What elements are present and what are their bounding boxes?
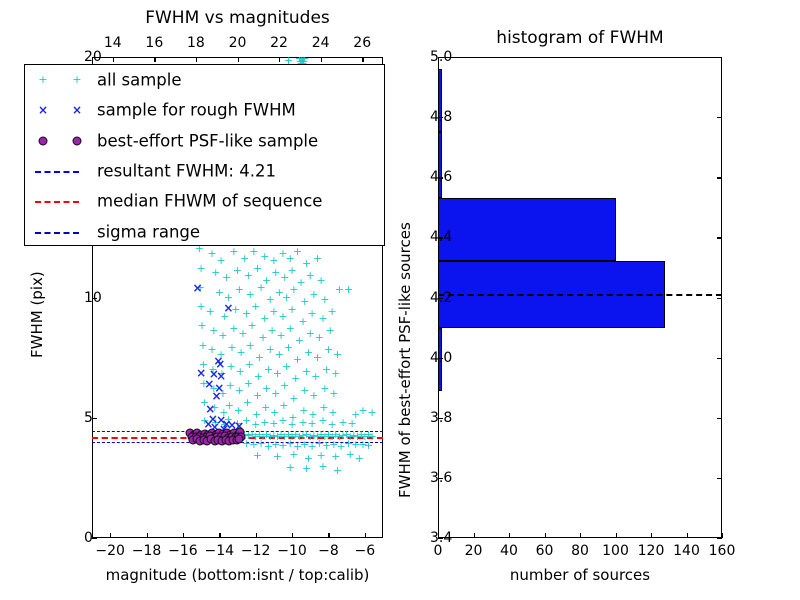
marker-all-sample: + [235,286,244,294]
ytick-right-label: 3.4 [430,530,452,546]
legend-item-median-fhwm-of-sequence[interactable]: median FHWM of sequence [25,186,384,216]
marker-all-sample: + [346,451,355,459]
marker-all-sample: + [335,286,344,294]
legend-plus-icon: + [72,76,81,84]
marker-all-sample: + [215,289,224,297]
marker-all-sample: + [287,306,296,314]
marker-all-sample: + [197,303,206,311]
tick-mark-y-right [717,358,722,359]
marker-all-sample: + [307,420,316,428]
xtick-top-label: 18 [187,35,205,51]
ytick-right-label: 3.6 [430,470,452,486]
legend-cross-icon: × [72,106,82,114]
marker-all-sample: + [347,420,356,428]
ytick-left-label: 0 [84,530,93,546]
marker-all-sample: + [251,303,260,311]
ytick-right-label: 3.8 [430,410,452,426]
marker-all-sample: + [240,255,249,263]
xtick-top-label: 16 [145,35,163,51]
marker-rough-fwhm: × [196,369,206,377]
marker-all-sample: + [209,327,218,335]
marker-all-sample: + [282,363,291,371]
tick-mark-x-right [474,533,475,538]
marker-all-sample: + [302,260,311,268]
left-panel-title: FWHM vs magnitudes [145,8,330,28]
marker-rough-fwhm: × [204,380,214,388]
marker-all-sample: + [344,286,353,294]
tick-mark-bottom [256,533,257,538]
marker-all-sample: + [227,363,236,371]
xtick-bottom-label: −10 [277,543,307,559]
marker-all-sample: + [333,351,342,359]
marker-all-sample: + [254,373,263,381]
tick-mark-bottom [328,533,329,538]
ytick-right-label: 4.8 [430,109,452,125]
marker-all-sample: + [298,419,307,427]
marker-all-sample: + [289,451,298,459]
marker-all-sample: + [322,366,331,374]
marker-all-sample: + [249,248,258,256]
marker-all-sample: + [271,269,280,277]
xtick-right-label: 20 [465,543,483,559]
marker-all-sample: + [299,407,308,415]
xtick-top-label: 26 [353,35,371,51]
marker-all-sample: + [309,291,318,299]
marker-all-sample: + [198,342,207,350]
legend-item-label: median FHWM of sequence [97,192,322,211]
legend-box: ++all sample××sample for rough FWHMbest-… [24,64,385,246]
marker-all-sample: + [226,382,235,390]
tick-mark-bottom [292,533,293,538]
marker-all-sample: + [313,354,322,362]
marker-all-sample: + [298,318,307,326]
marker-all-sample: + [247,322,256,330]
legend-cross-icon: × [38,106,48,114]
marker-all-sample: + [253,452,262,460]
marker-all-sample: + [300,387,309,395]
ytick-left-label: 5 [84,410,93,426]
marker-all-sample: + [319,404,328,412]
marker-all-sample: + [306,330,315,338]
marker-all-sample: + [278,313,287,321]
marker-all-sample: + [273,453,282,461]
tick-mark-bottom [147,533,148,538]
marker-all-sample: + [307,310,316,318]
ytick-right-label: 4.2 [430,290,452,306]
marker-all-sample: + [331,453,340,461]
histogram-bar [438,198,616,261]
marker-all-sample: + [320,385,329,393]
marker-all-sample: + [315,334,324,342]
marker-all-sample: + [258,334,267,342]
ytick-right-label: 5.0 [430,49,452,65]
marker-all-sample: + [257,284,266,292]
marker-all-sample: + [227,344,236,352]
marker-all-sample: + [238,330,247,338]
marker-all-sample: + [367,409,376,417]
marker-rough-fwhm: × [212,392,222,400]
legend-line-icon [35,171,79,173]
legend-line-icon [35,201,79,203]
xtick-bottom-label: −18 [132,543,162,559]
marker-all-sample: + [261,404,270,412]
marker-all-sample: + [302,368,311,376]
legend-item-label: all sample [97,71,182,90]
marker-all-sample: + [218,332,227,340]
marker-all-sample: + [318,417,327,425]
marker-all-sample: + [331,370,340,378]
xtick-right-label: 100 [602,543,629,559]
marker-all-sample: + [266,296,275,304]
marker-all-sample: + [244,272,253,280]
legend-item-resultant-fwhm-4-21[interactable]: resultant FWHM: 4.21 [25,156,384,186]
marker-psf-like [235,435,244,444]
tick-mark-y-right [717,478,722,479]
marker-all-sample: + [273,370,282,378]
xtick-bottom-label: −12 [241,543,271,559]
tick-mark-y-right [717,418,722,419]
tick-mark-x-right [722,533,723,538]
marker-all-sample: + [229,248,238,256]
marker-all-sample: + [306,272,315,280]
marker-rough-fwhm: × [216,372,226,380]
xtick-bottom-label: −8 [318,543,339,559]
marker-all-sample: + [313,255,322,263]
marker-all-sample: + [267,327,276,335]
tick-mark-y-right [717,538,722,539]
marker-all-sample: + [289,286,298,294]
marker-all-sample: + [278,417,287,425]
marker-all-sample: + [266,346,275,354]
marker-all-sample: + [269,257,278,265]
tick-mark-x-right [616,533,617,538]
legend-item-sample-for-rough-fwhm[interactable]: ××sample for rough FWHM [25,95,384,125]
figure-canvas: ++++++++++++++++++++++++++++++++++++++++… [0,0,800,600]
histogram-bar [438,132,442,198]
tick-mark-bottom [110,533,111,538]
xtick-bottom-label: −14 [205,543,235,559]
xtick-top-label: 20 [229,35,247,51]
ytick-right-label: 4.6 [430,169,452,185]
marker-all-sample: + [211,269,220,277]
legend-item-label: sample for rough FWHM [97,101,296,120]
marker-all-sample: + [233,267,242,275]
marker-all-sample: + [327,308,336,316]
tick-mark-y-right [717,117,722,118]
left-yaxis-label: FWHM (pix) [28,271,46,358]
marker-all-sample: + [243,399,252,407]
xtick-bottom-label: −20 [95,543,125,559]
marker-all-sample: + [304,349,313,357]
tick-mark-y-right [717,298,722,299]
marker-all-sample: + [197,265,206,273]
marker-all-sample: + [222,274,231,282]
marker-all-sample: + [311,373,320,381]
marker-all-sample: + [224,294,233,302]
right-panel-title: histogram of FWHM [496,28,663,48]
tick-mark-y-right [717,177,722,178]
marker-all-sample: + [217,257,226,265]
marker-all-sample: + [289,395,298,403]
ytick-right-label: 4.4 [430,229,452,245]
marker-all-sample: + [355,455,364,463]
marker-all-sample: + [318,315,327,323]
marker-all-sample: + [206,308,215,316]
marker-all-sample: + [246,291,255,299]
xtick-right-label: 140 [673,543,700,559]
marker-rough-fwhm: × [192,284,202,292]
legend-line-icon [35,232,79,234]
legend-item-all-sample[interactable]: ++all sample [25,65,384,95]
tick-mark-top [238,57,239,62]
marker-all-sample: + [364,442,373,450]
marker-all-sample: + [287,267,296,275]
tick-mark-top [196,57,197,62]
marker-all-sample: + [260,253,269,261]
marker-all-sample: + [260,419,269,427]
left-xaxis-label: magnitude (bottom:isnt / top:calib) [106,566,370,584]
tick-mark-y-right [717,237,722,238]
marker-all-sample: + [245,361,254,369]
marker-all-sample: + [302,465,311,473]
legend-item-sigma-range[interactable]: sigma range [25,217,384,247]
marker-all-sample: + [242,310,251,318]
marker-all-sample: + [279,402,288,410]
marker-all-sample: + [235,387,244,395]
histogram-reference-line [438,294,722,296]
xtick-right-label: 80 [571,543,589,559]
marker-all-sample: + [338,419,347,427]
right-yaxis-label: FWHM of best-effort PSF-like sources [396,222,414,498]
marker-all-sample: + [317,277,326,285]
tick-mark-x-right [651,533,652,538]
marker-all-sample: + [225,402,234,410]
tick-mark-top [154,57,155,62]
legend-item-label: sigma range [97,222,200,241]
marker-all-sample: + [326,327,335,335]
marker-all-sample: + [284,344,293,352]
tick-mark-bottom [365,533,366,538]
marker-all-sample: + [329,390,338,398]
marker-all-sample: + [269,308,278,316]
marker-all-sample: + [197,322,206,330]
marker-all-sample: + [358,407,367,415]
xtick-top-label: 24 [312,35,330,51]
marker-all-sample: + [264,366,273,374]
legend-dot-icon [73,136,82,145]
marker-all-sample: + [253,265,262,273]
marker-all-sample: + [280,382,289,390]
marker-all-sample: + [333,467,342,475]
xtick-right-label: 160 [709,543,736,559]
marker-all-sample: + [295,337,304,345]
tick-mark-top [279,57,280,62]
marker-all-sample: + [229,325,238,333]
marker-all-sample: + [318,463,327,471]
marker-all-sample: + [237,349,246,357]
marker-all-sample: + [320,296,329,304]
tick-mark-x-right [509,533,510,538]
marker-all-sample: + [293,356,302,364]
marker-all-sample: + [207,346,216,354]
marker-all-sample: + [244,380,253,388]
tick-mark-top [113,57,114,62]
tick-mark-x-right [545,533,546,538]
legend-item-label: best-effort PSF-like sample [97,131,318,150]
marker-all-sample: + [246,342,255,350]
marker-rough-fwhm: × [223,304,233,312]
marker-all-sample: + [275,351,284,359]
tick-mark-x-right [687,533,688,538]
marker-all-sample: + [300,298,309,306]
xtick-top-label: 14 [104,35,122,51]
marker-rough-fwhm: × [215,360,225,368]
tick-mark-x-right [580,533,581,538]
ytick-left-label: 10 [84,290,102,306]
marker-all-sample: + [277,332,286,340]
xtick-bottom-label: −6 [354,543,375,559]
tick-mark-y-right [717,57,722,58]
xtick-right-label: 60 [536,543,554,559]
tick-mark-top [321,57,322,62]
tick-mark-bottom [183,533,184,538]
marker-all-sample: + [317,452,326,460]
legend-item-label: resultant FWHM: 4.21 [97,162,276,181]
legend-item-best-effort-psf-like-sample[interactable]: best-effort PSF-like sample [25,126,384,156]
xtick-right-label: 40 [500,543,518,559]
legend-plus-icon: + [38,76,47,84]
legend-dot-icon [39,136,48,145]
marker-all-sample: + [207,250,216,258]
ytick-left-label: 20 [84,49,102,65]
marker-all-sample: + [269,420,278,428]
marker-all-sample: + [260,315,269,323]
tick-mark-top [362,57,363,62]
marker-all-sample: + [293,248,302,256]
marker-all-sample: + [324,346,333,354]
xtick-top-label: 22 [270,35,288,51]
marker-all-sample: + [271,390,280,398]
marker-all-sample: + [304,455,313,463]
marker-all-sample: + [291,375,300,383]
marker-all-sample: + [236,368,245,376]
marker-all-sample: + [286,325,295,333]
xtick-bottom-label: −16 [168,543,198,559]
right-xaxis-label: number of sources [510,566,650,584]
right-plot-data-area [438,57,722,538]
marker-all-sample: + [286,464,295,472]
xtick-right-label: 120 [638,543,665,559]
marker-all-sample: + [328,409,337,417]
marker-all-sample: + [234,407,243,415]
marker-all-sample: + [262,385,271,393]
tick-mark-bottom [219,533,220,538]
ytick-right-label: 4.0 [430,350,452,366]
marker-all-sample: + [255,354,264,362]
marker-all-sample: + [309,392,318,400]
marker-all-sample: + [253,392,262,400]
